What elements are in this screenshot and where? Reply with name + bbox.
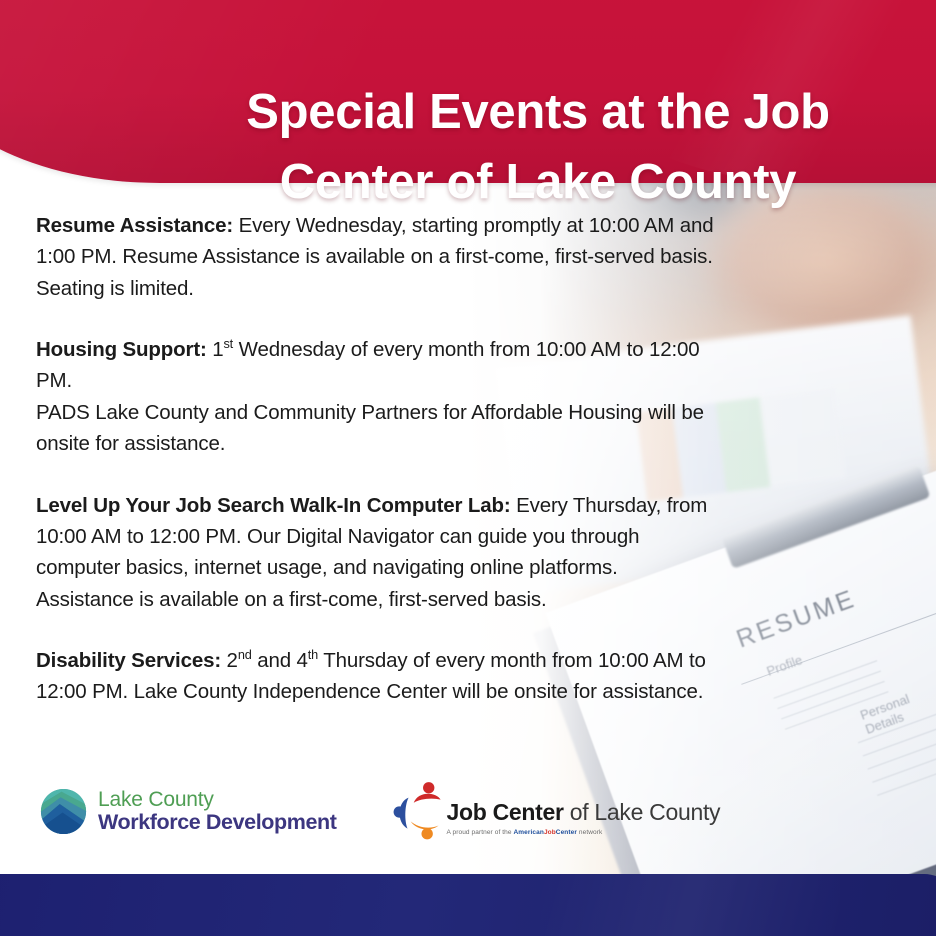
- tagline-job: Job: [544, 829, 556, 836]
- tagline-american: American: [514, 829, 544, 836]
- page-title-line-1: Special Events at the Job: [140, 78, 936, 148]
- footer-bar: [0, 874, 936, 936]
- tagline-center: Center: [556, 829, 577, 836]
- logo-job-center-of-lake-county: Job Center of Lake County A proud partne…: [391, 782, 721, 840]
- event-text: Resume Assistance: Every Wednesday, star…: [36, 210, 716, 304]
- logo-workforce-text: Lake County Workforce Development: [98, 789, 337, 834]
- event-level-up-computer-lab: Level Up Your Job Search Walk-In Compute…: [36, 490, 716, 615]
- logo-lake-county-workforce-development: Lake County Workforce Development: [40, 788, 337, 835]
- tagline-suffix: network: [577, 829, 602, 836]
- circle-wave-icon: [40, 788, 87, 835]
- event-body-part-3: PADS Lake County and Community Partners …: [36, 397, 716, 460]
- event-body-part-1: 2: [221, 649, 238, 672]
- ordinal-suffix-1: nd: [238, 647, 252, 662]
- footer-sheen: [540, 874, 840, 936]
- ordinal-suffix-2: th: [308, 647, 318, 662]
- event-text: Housing Support: 1st Wednesday of every …: [36, 334, 716, 397]
- page-title: Special Events at the Job Center of Lake…: [70, 78, 936, 217]
- event-resume-assistance: Resume Assistance: Every Wednesday, star…: [36, 210, 716, 304]
- page-title-line-2: Center of Lake County: [140, 148, 936, 218]
- flyer-canvas: RESUME Profile Personal Details Special …: [0, 0, 936, 936]
- event-label: Housing Support:: [36, 338, 207, 361]
- logo-jobcenter-tagline: A proud partner of the AmericanJobCenter…: [447, 829, 721, 836]
- event-disability-services: Disability Services: 2nd and 4th Thursda…: [36, 645, 716, 708]
- event-label: Resume Assistance:: [36, 214, 233, 237]
- event-label: Disability Services:: [36, 649, 221, 672]
- event-body-part-1: 1: [207, 338, 224, 361]
- ordinal-suffix: st: [223, 336, 233, 351]
- event-text: Disability Services: 2nd and 4th Thursda…: [36, 645, 716, 708]
- three-people-icon: [391, 782, 453, 840]
- event-housing-support: Housing Support: 1st Wednesday of every …: [36, 334, 716, 459]
- logo-jobcenter-title-bold: Job Center: [447, 799, 564, 825]
- logo-jobcenter-title: Job Center of Lake County: [447, 799, 721, 826]
- logo-workforce-line-2: Workforce Development: [98, 811, 337, 834]
- logo-row: Lake County Workforce Development Job Ce…: [40, 782, 720, 840]
- logo-jobcenter-text: Job Center of Lake County A proud partne…: [447, 799, 721, 840]
- logo-workforce-line-1: Lake County: [98, 789, 337, 811]
- logo-jobcenter-title-light: of Lake County: [564, 799, 721, 825]
- events-list: Resume Assistance: Every Wednesday, star…: [36, 210, 716, 738]
- event-label: Level Up Your Job Search Walk-In Compute…: [36, 494, 511, 517]
- tagline-prefix: A proud partner of the: [447, 829, 514, 836]
- event-body-part-2: and 4: [252, 649, 308, 672]
- event-text: Level Up Your Job Search Walk-In Compute…: [36, 490, 716, 615]
